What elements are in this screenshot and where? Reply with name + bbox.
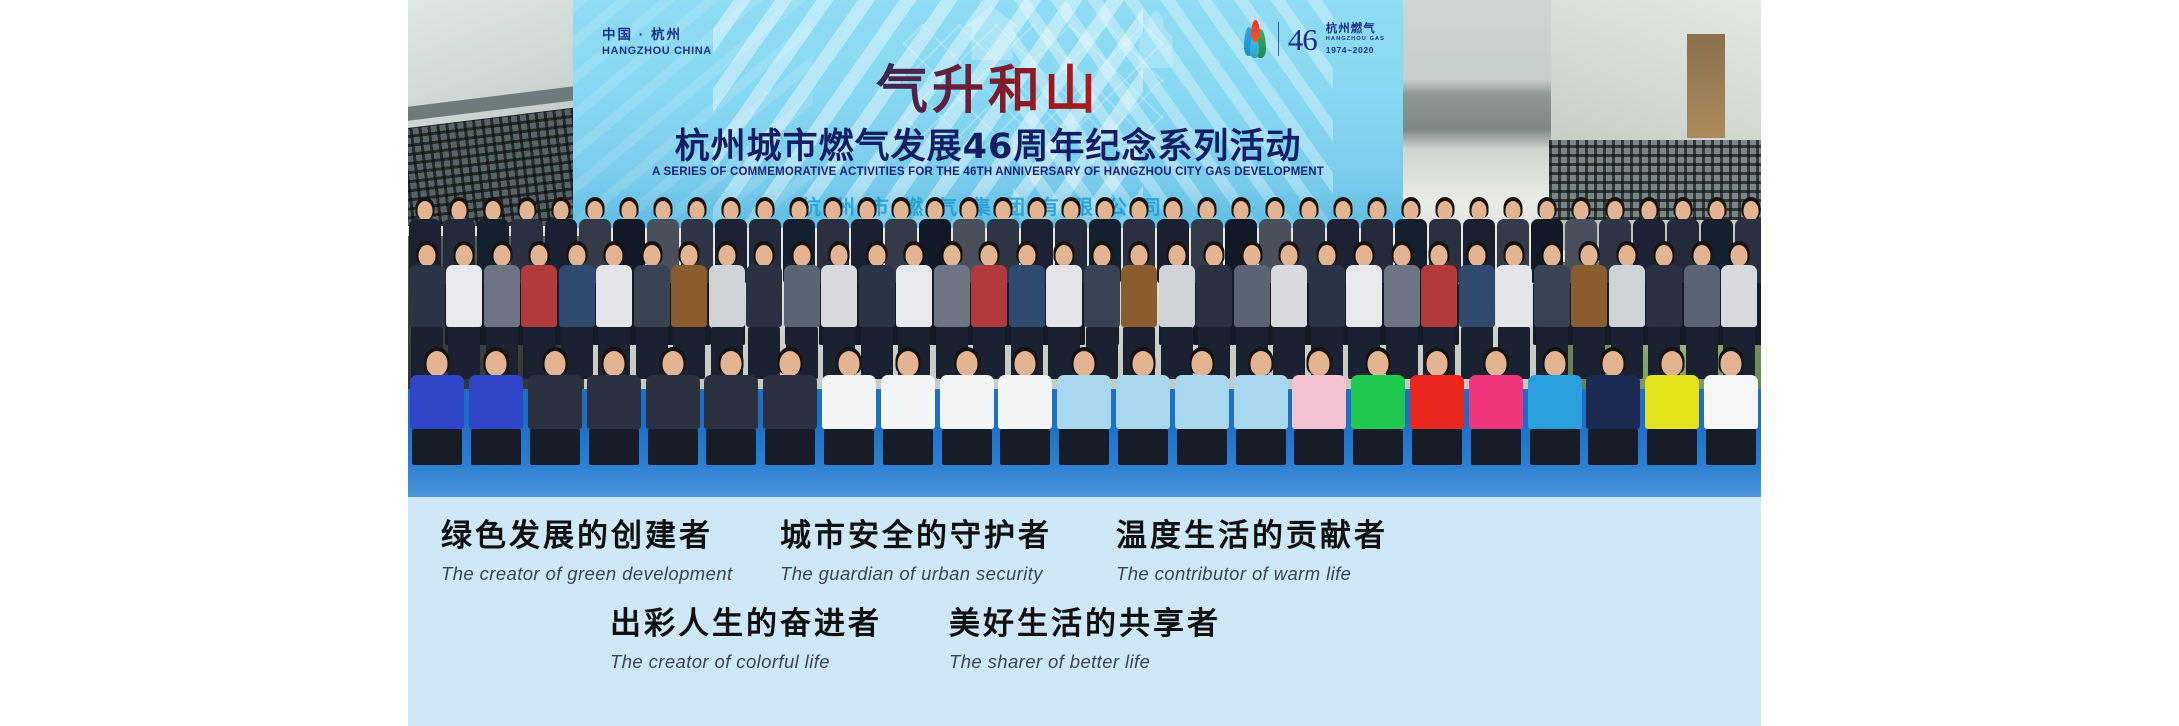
person-figure — [526, 347, 585, 467]
caption-item: 出彩人生的奋进者The creator of colorful life — [610, 607, 882, 673]
figure-torso — [1234, 375, 1288, 429]
caption-cn: 温度生活的贡献者 — [1116, 519, 1388, 555]
caption-item: 美好生活的共享者The sharer of better life — [949, 607, 1221, 673]
figure-head — [452, 201, 467, 220]
figure-head — [1581, 245, 1598, 266]
figure-head — [1368, 351, 1389, 376]
figure-head — [928, 201, 943, 220]
figure-torso — [596, 265, 632, 327]
figure-head — [1056, 245, 1073, 266]
figure-torso — [1271, 265, 1307, 327]
figure-head — [894, 201, 909, 220]
poster-content: 中国 · 杭州 HANGZHOU CHINA 46 杭州燃气 HANGZHOU … — [408, 0, 1761, 726]
figure-head — [1544, 351, 1565, 376]
figure-torso — [821, 265, 857, 327]
figure-head — [1720, 351, 1741, 376]
figure-head — [1093, 245, 1110, 266]
person-figure — [643, 347, 702, 467]
figure-torso — [1159, 265, 1195, 327]
figure-torso — [881, 375, 935, 429]
figure-legs — [1706, 429, 1756, 465]
figure-head — [981, 245, 998, 266]
figure-legs — [824, 429, 874, 465]
caption-cn: 城市安全的守护者 — [780, 519, 1052, 555]
figure-torso — [1009, 265, 1045, 327]
caption-en: The creator of green development — [441, 563, 733, 585]
figure-head — [486, 201, 501, 220]
figure-torso — [1046, 265, 1082, 327]
figure-head — [1098, 201, 1113, 220]
venue-right-wood-panel — [1687, 34, 1725, 138]
crowd — [408, 167, 1761, 497]
figure-torso — [1469, 375, 1523, 429]
figure-torso — [446, 265, 482, 327]
figure-legs — [1177, 429, 1227, 465]
figure-torso — [1346, 265, 1382, 327]
figure-head — [554, 201, 569, 220]
figure-legs — [942, 429, 992, 465]
person-figure — [1466, 347, 1525, 467]
figure-torso — [484, 265, 520, 327]
figure-head — [1642, 201, 1657, 220]
figure-legs — [1059, 429, 1109, 465]
figure-head — [568, 245, 585, 266]
location-label-cn: 中国 · 杭州 — [602, 26, 712, 44]
figure-torso — [1646, 265, 1682, 327]
figure-torso — [1384, 265, 1420, 327]
figure-head — [418, 201, 433, 220]
figure-head — [962, 201, 977, 220]
figure-torso — [784, 265, 820, 327]
figure-torso — [1234, 265, 1270, 327]
person-figure — [1525, 347, 1584, 467]
figure-torso — [971, 265, 1007, 327]
figure-head — [1656, 245, 1673, 266]
figure-head — [418, 245, 435, 266]
person-figure — [761, 347, 820, 467]
figure-torso — [409, 265, 445, 327]
figure-head — [486, 351, 507, 376]
figure-torso — [1084, 265, 1120, 327]
figure-legs — [1118, 429, 1168, 465]
figure-head — [758, 201, 773, 220]
figure-head — [1676, 201, 1691, 220]
caption-en: The creator of colorful life — [610, 651, 882, 673]
art-logo-text: 气升和山 — [573, 48, 1403, 123]
person-figure — [584, 347, 643, 467]
figure-torso — [1496, 265, 1532, 327]
figure-torso — [709, 265, 745, 327]
figure-head — [1603, 351, 1624, 376]
figure-torso — [1196, 265, 1232, 327]
person-figure — [996, 347, 1055, 467]
figure-head — [1268, 201, 1283, 220]
logo-company-cn: 杭州燃气 — [1326, 22, 1385, 36]
person-figure — [1231, 347, 1290, 467]
person-figure — [408, 347, 467, 467]
caption-panel: 绿色发展的创建者The creator of green development… — [408, 497, 1761, 726]
figure-head — [756, 245, 773, 266]
caption-item: 绿色发展的创建者The creator of green development — [441, 519, 733, 585]
figure-head — [1731, 245, 1748, 266]
caption-cn: 美好生活的共享者 — [949, 607, 1221, 643]
figure-torso — [1351, 375, 1405, 429]
figure-head — [721, 351, 742, 376]
figure-head — [1281, 245, 1298, 266]
figure-head — [1336, 201, 1351, 220]
figure-torso — [1410, 375, 1464, 429]
figure-torso — [1528, 375, 1582, 429]
figure-head — [826, 201, 841, 220]
figure-legs — [1294, 429, 1344, 465]
figure-torso — [646, 375, 700, 429]
figure-head — [1200, 201, 1215, 220]
person-figure — [1055, 347, 1114, 467]
figure-head — [1540, 201, 1555, 220]
figure-legs — [883, 429, 933, 465]
figure-head — [1426, 351, 1447, 376]
figure-torso — [1609, 265, 1645, 327]
figure-head — [1131, 245, 1148, 266]
screenshot-root: 中国 · 杭州 HANGZHOU CHINA 46 杭州燃气 HANGZHOU … — [0, 0, 2179, 726]
figure-head — [1710, 201, 1725, 220]
figure-head — [1302, 201, 1317, 220]
figure-torso — [1571, 265, 1607, 327]
figure-head — [622, 201, 637, 220]
figure-head — [906, 245, 923, 266]
figure-head — [1370, 201, 1385, 220]
figure-torso — [469, 375, 523, 429]
figure-head — [1485, 351, 1506, 376]
figure-head — [1506, 201, 1521, 220]
figure-head — [1468, 245, 1485, 266]
figure-legs — [1647, 429, 1697, 465]
figure-head — [1206, 245, 1223, 266]
figure-head — [544, 351, 565, 376]
figure-head — [1506, 245, 1523, 266]
person-figure — [1114, 347, 1173, 467]
figure-head — [1132, 351, 1153, 376]
figure-legs — [412, 429, 462, 465]
figure-head — [1472, 201, 1487, 220]
figure-head — [1431, 245, 1448, 266]
figure-head — [718, 245, 735, 266]
person-figure — [467, 347, 526, 467]
figure-head — [520, 201, 535, 220]
figure-torso — [1645, 375, 1699, 429]
figure-head — [493, 245, 510, 266]
figure-head — [1234, 201, 1249, 220]
figure-head — [793, 245, 810, 266]
figure-head — [1608, 201, 1623, 220]
figure-head — [1744, 201, 1759, 220]
caption-cn: 绿色发展的创建者 — [441, 519, 733, 555]
person-figure — [1643, 347, 1702, 467]
group-photo: 中国 · 杭州 HANGZHOU CHINA 46 杭州燃气 HANGZHOU … — [408, 0, 1761, 497]
figure-torso — [634, 265, 670, 327]
figure-head — [868, 245, 885, 266]
figure-head — [1543, 245, 1560, 266]
figure-head — [1030, 201, 1045, 220]
figure-head — [860, 201, 875, 220]
figure-torso — [671, 265, 707, 327]
figure-torso — [1309, 265, 1345, 327]
figure-torso — [1459, 265, 1495, 327]
figure-legs — [1471, 429, 1521, 465]
figure-torso — [746, 265, 782, 327]
figure-legs — [765, 429, 815, 465]
figure-torso — [1586, 375, 1640, 429]
figure-torso — [934, 265, 970, 327]
figure-legs — [1353, 429, 1403, 465]
figure-head — [1309, 351, 1330, 376]
figure-legs — [1530, 429, 1580, 465]
figure-head — [1064, 201, 1079, 220]
figure-legs — [471, 429, 521, 465]
figure-head — [1166, 201, 1181, 220]
figure-torso — [410, 375, 464, 429]
person-figure — [1584, 347, 1643, 467]
figure-torso — [1057, 375, 1111, 429]
figure-head — [996, 201, 1011, 220]
person-figure — [878, 347, 937, 467]
caption-item: 城市安全的守护者The guardian of urban security — [780, 519, 1052, 585]
figure-legs — [1412, 429, 1462, 465]
figure-head — [780, 351, 801, 376]
caption-en: The contributor of warm life — [1116, 563, 1388, 585]
figure-head — [690, 201, 705, 220]
person-figure — [1172, 347, 1231, 467]
figure-head — [1074, 351, 1095, 376]
figure-torso — [763, 375, 817, 429]
figure-head — [1168, 245, 1185, 266]
figure-torso — [1721, 265, 1757, 327]
caption-en: The sharer of better life — [949, 651, 1221, 673]
figure-torso — [704, 375, 758, 429]
caption-item: 温度生活的贡献者The contributor of warm life — [1116, 519, 1388, 585]
figure-head — [943, 245, 960, 266]
figure-head — [1438, 201, 1453, 220]
logo-company-en: HANGZHOU GAS — [1326, 36, 1385, 43]
caption-en: The guardian of urban security — [780, 563, 1052, 585]
figure-head — [1318, 245, 1335, 266]
figure-head — [724, 201, 739, 220]
figure-torso — [1534, 265, 1570, 327]
figure-legs — [530, 429, 580, 465]
figure-torso — [1292, 375, 1346, 429]
figure-head — [1662, 351, 1683, 376]
figure-head — [662, 351, 683, 376]
figure-head — [1404, 201, 1419, 220]
figure-head — [897, 351, 918, 376]
figure-head — [603, 351, 624, 376]
figure-head — [1243, 245, 1260, 266]
person-figure — [820, 347, 879, 467]
figure-torso — [528, 375, 582, 429]
figure-head — [792, 201, 807, 220]
figure-torso — [521, 265, 557, 327]
figure-head — [1693, 245, 1710, 266]
figure-legs — [648, 429, 698, 465]
person-figure — [1702, 347, 1761, 467]
figure-head — [1356, 245, 1373, 266]
figure-head — [1393, 245, 1410, 266]
figure-torso — [1175, 375, 1229, 429]
figure-head — [1191, 351, 1212, 376]
figure-torso — [940, 375, 994, 429]
figure-torso — [587, 375, 641, 429]
figure-legs — [589, 429, 639, 465]
figure-head — [681, 245, 698, 266]
figure-torso — [859, 265, 895, 327]
figure-head — [456, 245, 473, 266]
figure-torso — [559, 265, 595, 327]
figure-head — [427, 351, 448, 376]
figure-torso — [896, 265, 932, 327]
figure-legs — [1236, 429, 1286, 465]
person-figure — [702, 347, 761, 467]
person-figure — [1408, 347, 1467, 467]
figure-head — [588, 201, 603, 220]
figure-torso — [822, 375, 876, 429]
crowd-row-front — [408, 347, 1761, 467]
person-figure — [937, 347, 996, 467]
figure-torso — [1121, 265, 1157, 327]
person-figure — [1349, 347, 1408, 467]
figure-head — [1618, 245, 1635, 266]
figure-legs — [1000, 429, 1050, 465]
figure-head — [606, 245, 623, 266]
figure-head — [831, 245, 848, 266]
figure-torso — [1684, 265, 1720, 327]
figure-head — [956, 351, 977, 376]
caption-cn: 出彩人生的奋进者 — [610, 607, 882, 643]
person-figure — [1290, 347, 1349, 467]
figure-head — [838, 351, 859, 376]
figure-torso — [1421, 265, 1457, 327]
figure-head — [1132, 201, 1147, 220]
figure-head — [656, 201, 671, 220]
figure-head — [1574, 201, 1589, 220]
figure-legs — [1588, 429, 1638, 465]
figure-head — [1015, 351, 1036, 376]
banner-title-cn: 杭州城市燃气发展46周年纪念系列活动 — [573, 118, 1403, 169]
figure-head — [1018, 245, 1035, 266]
figure-torso — [998, 375, 1052, 429]
figure-head — [1250, 351, 1271, 376]
figure-head — [643, 245, 660, 266]
figure-torso — [1704, 375, 1758, 429]
figure-head — [531, 245, 548, 266]
figure-legs — [706, 429, 756, 465]
figure-torso — [1116, 375, 1170, 429]
